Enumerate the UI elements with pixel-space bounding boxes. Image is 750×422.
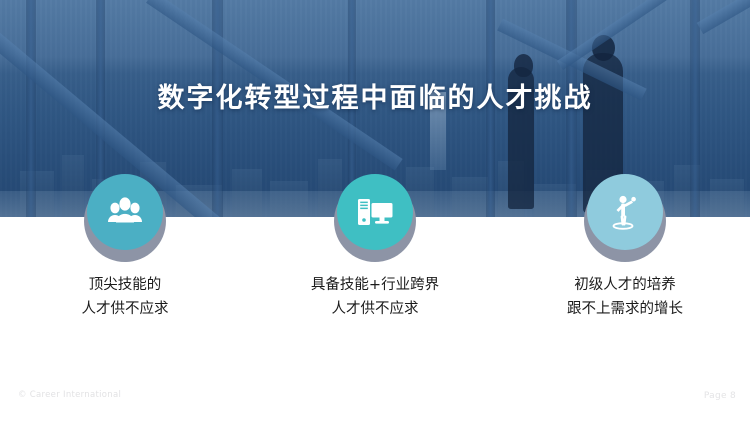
person-presenting-icon bbox=[606, 193, 644, 231]
desktop-computer-icon bbox=[355, 195, 395, 229]
feature-badge[interactable] bbox=[334, 174, 416, 256]
badge-circle bbox=[87, 174, 163, 250]
caption-line-2: 人才供不应求 bbox=[82, 298, 169, 322]
caption-line-1: 初级人才的培养 bbox=[567, 274, 683, 298]
feature-item-cross-industry: 具备技能+行业跨界 人才供不应求 bbox=[250, 174, 500, 322]
caption-line-1: 具备技能+行业跨界 bbox=[311, 274, 439, 298]
feature-badge[interactable] bbox=[84, 174, 166, 256]
footer-page-number: Page 8 bbox=[704, 391, 736, 401]
footer-copyright: © Career International bbox=[18, 390, 121, 400]
people-group-icon bbox=[105, 195, 145, 229]
person-silhouette-left-head bbox=[514, 54, 533, 77]
feature-item-junior-talent: 初级人才的培养 跟不上需求的增长 bbox=[500, 174, 750, 322]
caption-line-2: 人才供不应求 bbox=[311, 298, 439, 322]
presentation-slide: 数字化转型过程中面临的人才挑战 bbox=[0, 0, 750, 422]
badge-circle bbox=[587, 174, 663, 250]
feature-caption: 具备技能+行业跨界 人才供不应求 bbox=[311, 274, 439, 322]
feature-row: 顶尖技能的 人才供不应求 bbox=[0, 174, 750, 322]
caption-line-2: 跟不上需求的增长 bbox=[567, 298, 683, 322]
caption-line-1: 顶尖技能的 bbox=[82, 274, 169, 298]
badge-circle bbox=[337, 174, 413, 250]
feature-caption: 初级人才的培养 跟不上需求的增长 bbox=[567, 274, 683, 322]
slide-title: 数字化转型过程中面临的人才挑战 bbox=[0, 76, 750, 115]
feature-caption: 顶尖技能的 人才供不应求 bbox=[82, 274, 169, 322]
feature-badge[interactable] bbox=[584, 174, 666, 256]
feature-item-top-skills: 顶尖技能的 人才供不应求 bbox=[0, 174, 250, 322]
